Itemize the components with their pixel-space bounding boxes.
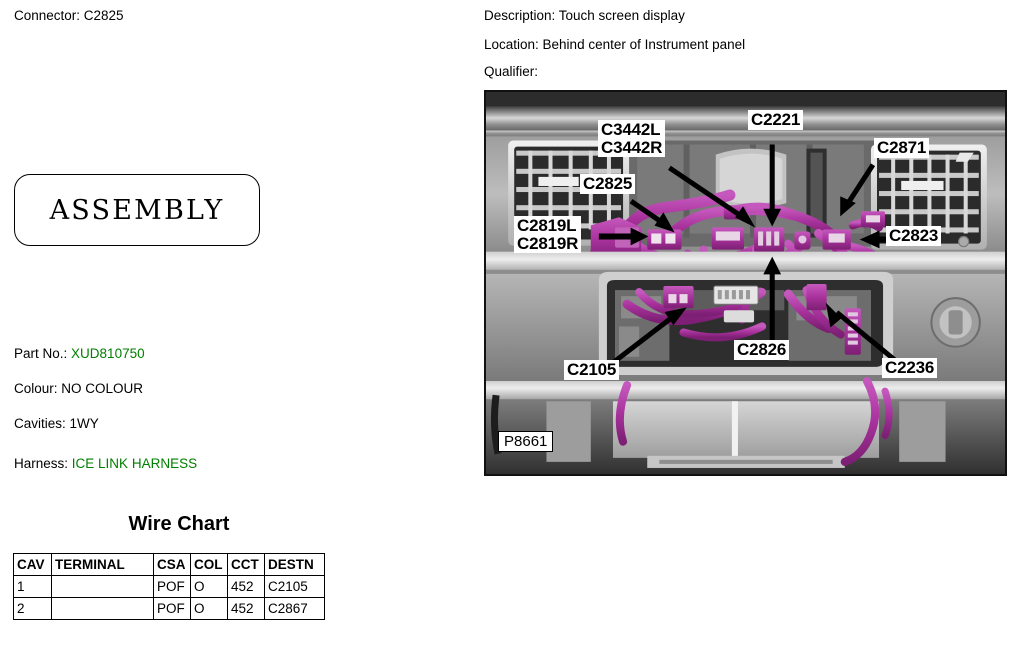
column-header-terminal: TERMINAL [52,554,154,576]
qualifier-label: Qualifier: [484,64,538,79]
assembly-box-label: ASSEMBLY [50,195,225,226]
callout-c2105: C2105 [564,360,619,380]
column-header-csa: CSA [154,554,191,576]
location-label: Location: Behind center of Instrument pa… [484,37,745,52]
cavities-value: 1WY [70,416,99,431]
assembly-box: ASSEMBLY [14,174,260,246]
colour-row: Colour: NO COLOUR [14,381,143,396]
column-header-cct: CCT [228,554,265,576]
connector-label: Connector: C2825 [14,8,124,23]
harness-value: ICE LINK HARNESS [72,456,197,471]
callout-c2826: C2826 [734,340,789,360]
column-header-col: COL [191,554,228,576]
table-row: 1 POF O 452 C2105 [14,576,325,598]
harness-row: Harness: ICE LINK HARNESS [14,456,197,471]
callout-c2871: C2871 [874,138,929,158]
instrument-panel-photo: C3442L C3442R C2221 C2871 C2825 C2819L C… [484,90,1007,476]
callout-c2221: C2221 [748,110,803,130]
cell-terminal [52,598,154,620]
callout-c2819: C2819L C2819R [514,216,581,253]
cell-csa: POF [154,598,191,620]
cell-terminal [52,576,154,598]
cell-csa: POF [154,576,191,598]
cell-cav: 1 [14,576,52,598]
cell-destn: C2105 [265,576,325,598]
cell-col: O [191,576,228,598]
cavities-label: Cavities: [14,416,66,431]
table-row: 2 POF O 452 C2867 [14,598,325,620]
colour-label: Colour: [14,381,58,396]
callout-c3442: C3442L C3442R [598,120,665,157]
description-label: Description: Touch screen display [484,8,685,23]
part-no-value: XUD810750 [71,346,145,361]
part-no-row: Part No.: XUD810750 [14,346,145,361]
callout-c2825: C2825 [580,174,635,194]
wire-chart-title: Wire Chart [0,513,358,536]
colour-value: NO COLOUR [61,381,143,396]
part-no-label: Part No.: [14,346,67,361]
callout-c2823: C2823 [886,226,941,246]
cell-col: O [191,598,228,620]
harness-label: Harness: [14,456,68,471]
column-header-cav: CAV [14,554,52,576]
cavities-row: Cavities: 1WY [14,416,99,431]
callout-c2236: C2236 [882,358,937,378]
wire-chart-table: CAV TERMINAL CSA COL CCT DESTN 1 POF O 4… [13,553,325,620]
column-header-destn: DESTN [265,554,325,576]
cell-cct: 452 [228,598,265,620]
cell-cct: 452 [228,576,265,598]
table-header-row: CAV TERMINAL CSA COL CCT DESTN [14,554,325,576]
cell-destn: C2867 [265,598,325,620]
cell-cav: 2 [14,598,52,620]
figure-id-label: P8661 [498,431,553,452]
